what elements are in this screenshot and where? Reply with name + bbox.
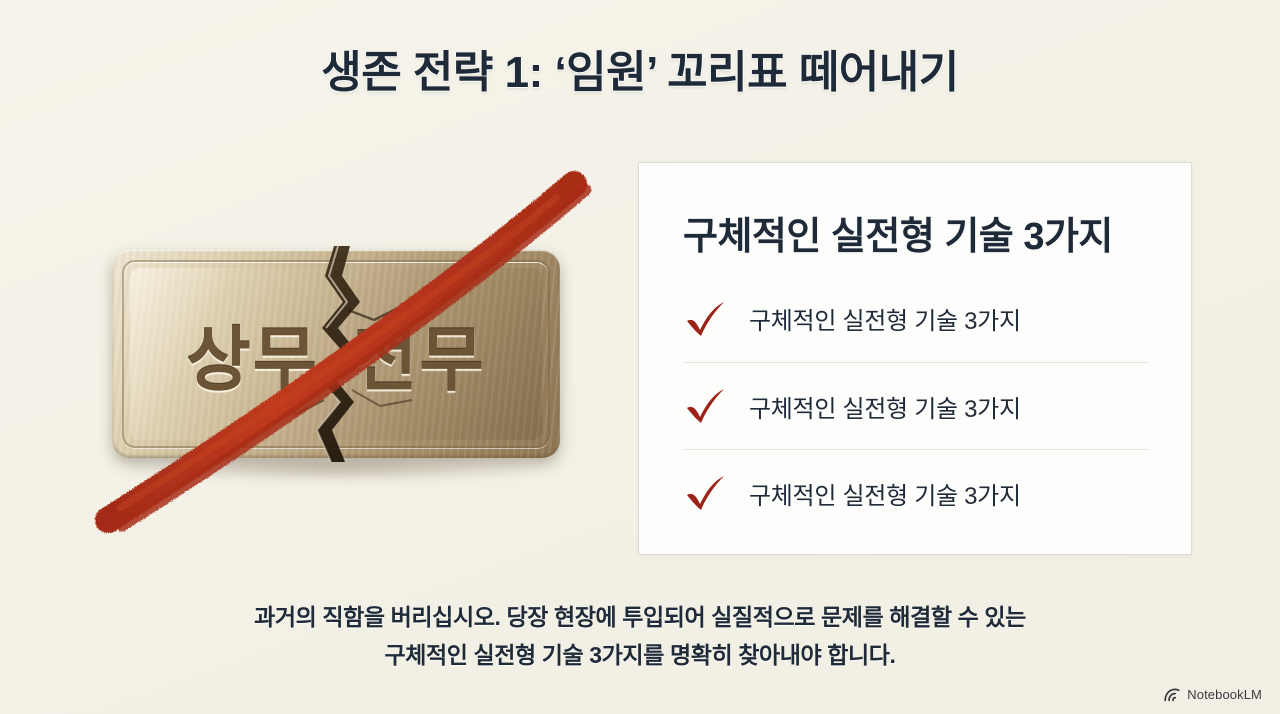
- watermark-label: NotebookLM: [1187, 687, 1262, 702]
- list-item[interactable]: 구체적인 실전형 기술 3가지: [683, 275, 1149, 362]
- plaque-illustration: 상무 전무: [86, 168, 596, 543]
- list-item[interactable]: 구체적인 실전형 기술 3가지: [683, 449, 1149, 536]
- check-icon: [683, 299, 727, 339]
- card-heading: 구체적인 실전형 기술 3가지: [683, 205, 1113, 260]
- skills-list: 구체적인 실전형 기술 3가지 구체적인 실전형 기술 3가지 구체적인 실전형…: [683, 275, 1149, 536]
- slide-canvas: 생존 전략 1: ‘임원’ 꼬리표 떼어내기 상무 전무: [0, 0, 1280, 714]
- skills-card: 구체적인 실전형 기술 3가지 구체적인 실전형 기술 3가지 구체적인 실전형…: [638, 162, 1192, 555]
- page-title: 생존 전략 1: ‘임원’ 꼬리표 떼어내기: [0, 36, 1280, 100]
- plaque-drop-shadow: [118, 456, 558, 482]
- list-item[interactable]: 구체적인 실전형 기술 3가지: [683, 362, 1149, 449]
- list-item-label: 구체적인 실전형 기술 3가지: [749, 389, 1021, 424]
- notebooklm-watermark: NotebookLM: [1164, 687, 1262, 702]
- executive-title-plaque: [112, 250, 560, 458]
- list-item-label: 구체적인 실전형 기술 3가지: [749, 301, 1021, 336]
- caption-line-2: 구체적인 실전형 기술 3가지를 명확히 찾아내야 합니다.: [0, 636, 1280, 674]
- notebooklm-arc-icon: [1164, 688, 1181, 702]
- list-item-label: 구체적인 실전형 기술 3가지: [749, 476, 1021, 511]
- check-icon: [683, 386, 727, 426]
- slide-caption: 과거의 직함을 버리십시오. 당장 현장에 투입되어 실질적으로 문제를 해결할…: [0, 598, 1280, 674]
- caption-line-1: 과거의 직함을 버리십시오. 당장 현장에 투입되어 실질적으로 문제를 해결할…: [0, 598, 1280, 636]
- check-icon: [683, 473, 727, 513]
